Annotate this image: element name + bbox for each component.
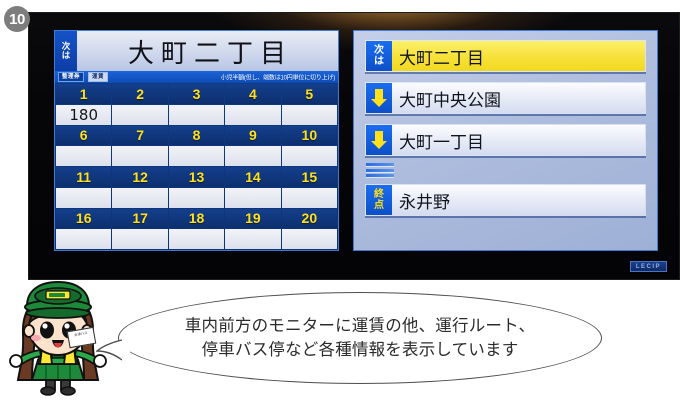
- fare-value-row: [56, 188, 337, 208]
- route-stop-name: 大町中央公園: [392, 83, 645, 113]
- fare-value-cell: [112, 188, 167, 208]
- fare-value-cell: [112, 105, 167, 125]
- route-stop-name: 大町一丁目: [392, 125, 645, 155]
- bus-monitor: 次 は 大町二丁目 整理券 運賃 小児半額(但し、端数は10円単位に切り上げ) …: [28, 12, 680, 280]
- ticket-number-cell: 5: [282, 84, 337, 104]
- chip-char: 終: [374, 189, 384, 200]
- fare-value-cell: [282, 146, 337, 166]
- fare-value-cell: [56, 229, 111, 249]
- fare-value-cell: [169, 188, 224, 208]
- ticket-number-cell: 17: [112, 209, 167, 229]
- fare-value-cell: 180: [56, 105, 111, 125]
- tag-seiriken: 整理券: [58, 72, 84, 82]
- fare-grid-block: 678910: [56, 126, 337, 167]
- fare-value-cell: [56, 188, 111, 208]
- monitor-screen: 次 は 大町二丁目 整理券 運賃 小児半額(但し、端数は10円単位に切り上げ) …: [54, 30, 658, 251]
- fare-grid: 1234518067891011121314151617181920: [55, 83, 338, 250]
- ticket-number-cell: 4: [225, 84, 280, 104]
- fare-value-row: [56, 229, 337, 249]
- route-stop-chip-label: 次は: [366, 41, 392, 71]
- fare-value-cell: [169, 105, 224, 125]
- arrow-down-icon: [366, 125, 392, 155]
- callout-bubble: 車内前方のモニターに運賃の他、運行ルート、 停車バス停など各種情報を表示していま…: [118, 292, 602, 384]
- mascot-illustration: [2, 276, 114, 398]
- chip-char: 点: [374, 200, 384, 211]
- skip-bar: [366, 163, 394, 166]
- route-stop-chip-label: 終点: [366, 185, 392, 215]
- route-list-panel: 次は大町二丁目大町中央公園大町一丁目終点永井野: [353, 30, 658, 251]
- ticket-number-cell: 15: [282, 167, 337, 187]
- chip-char: は: [374, 56, 384, 67]
- page-root: 10 次 は 大町二丁目 整理券 運賃 小児半額(但し、端数は10円単位に切り上…: [0, 0, 700, 400]
- tag-unchin: 運賃: [88, 72, 108, 82]
- fare-title-bar: 次 は 大町二丁目: [55, 31, 338, 71]
- next-stop-chip: 次 は: [55, 31, 77, 71]
- fare-value-cell: [225, 105, 280, 125]
- fare-grid-block: 1112131415: [56, 167, 337, 208]
- next-stop-name: 大町二丁目: [77, 31, 338, 71]
- ticket-number-cell: 14: [225, 167, 280, 187]
- ticket-number-cell: 16: [56, 209, 111, 229]
- fare-grid-block: 1617181920: [56, 209, 337, 250]
- ticket-number-cell: 7: [112, 126, 167, 146]
- fare-subbar: 整理券 運賃 小児半額(但し、端数は10円単位に切り上げ): [55, 71, 338, 83]
- route-stop-row: 大町一丁目: [365, 124, 646, 156]
- step-number-badge: 10: [4, 6, 30, 32]
- next-chip-line2: は: [62, 51, 71, 61]
- fare-value-cell: [282, 105, 337, 125]
- fare-value-cell: [225, 229, 280, 249]
- route-stop-name: 大町二丁目: [392, 41, 645, 71]
- monitor-brand-logo: LECIP: [630, 261, 667, 272]
- ticket-number-cell: 20: [282, 209, 337, 229]
- ticket-number-cell: 18: [169, 209, 224, 229]
- arrow-down-icon: [366, 83, 392, 113]
- ticket-number-row: 1617181920: [56, 209, 337, 229]
- skipped-stops-indicator: [366, 163, 646, 177]
- ticket-number-row: 678910: [56, 126, 337, 146]
- route-stop-row: 大町中央公園: [365, 82, 646, 114]
- route-stop-name: 永井野: [392, 185, 645, 215]
- ticket-number-cell: 1: [56, 84, 111, 104]
- fare-value-cell: [112, 229, 167, 249]
- ticket-number-cell: 19: [225, 209, 280, 229]
- fare-value-cell: [169, 146, 224, 166]
- ticket-number-cell: 9: [225, 126, 280, 146]
- fare-value-cell: [282, 188, 337, 208]
- skip-bar: [366, 169, 394, 172]
- callout-line-1: 車内前方のモニターに運賃の他、運行ルート、: [185, 314, 535, 338]
- ticket-number-cell: 8: [169, 126, 224, 146]
- fare-value-row: 180: [56, 105, 337, 125]
- mascot-character: 会津バス: [2, 276, 114, 398]
- fare-value-cell: [225, 146, 280, 166]
- fare-value-cell: [225, 188, 280, 208]
- ticket-number-cell: 6: [56, 126, 111, 146]
- ticket-number-cell: 11: [56, 167, 111, 187]
- fare-note: 小児半額(但し、端数は10円単位に切り上げ): [221, 73, 335, 82]
- fare-value-cell: [56, 146, 111, 166]
- ticket-number-row: 12345: [56, 84, 337, 104]
- fare-grid-block: 12345180: [56, 84, 337, 125]
- ticket-number-cell: 3: [169, 84, 224, 104]
- route-stop-row: 次は大町二丁目: [365, 40, 646, 72]
- skip-bar: [366, 174, 394, 177]
- fare-value-cell: [282, 229, 337, 249]
- fare-table-panel: 次 は 大町二丁目 整理券 運賃 小児半額(但し、端数は10円単位に切り上げ) …: [54, 30, 339, 251]
- ticket-number-cell: 12: [112, 167, 167, 187]
- ticket-number-row: 1112131415: [56, 167, 337, 187]
- ticket-number-cell: 13: [169, 167, 224, 187]
- route-stop-row: 終点永井野: [365, 184, 646, 216]
- ticket-number-cell: 2: [112, 84, 167, 104]
- fare-value-cell: [112, 146, 167, 166]
- callout-line-2: 停車バス停など各種情報を表示しています: [202, 338, 519, 362]
- chip-char: 次: [374, 45, 384, 56]
- fare-value-row: [56, 146, 337, 166]
- fare-value-cell: [169, 229, 224, 249]
- ticket-number-cell: 10: [282, 126, 337, 146]
